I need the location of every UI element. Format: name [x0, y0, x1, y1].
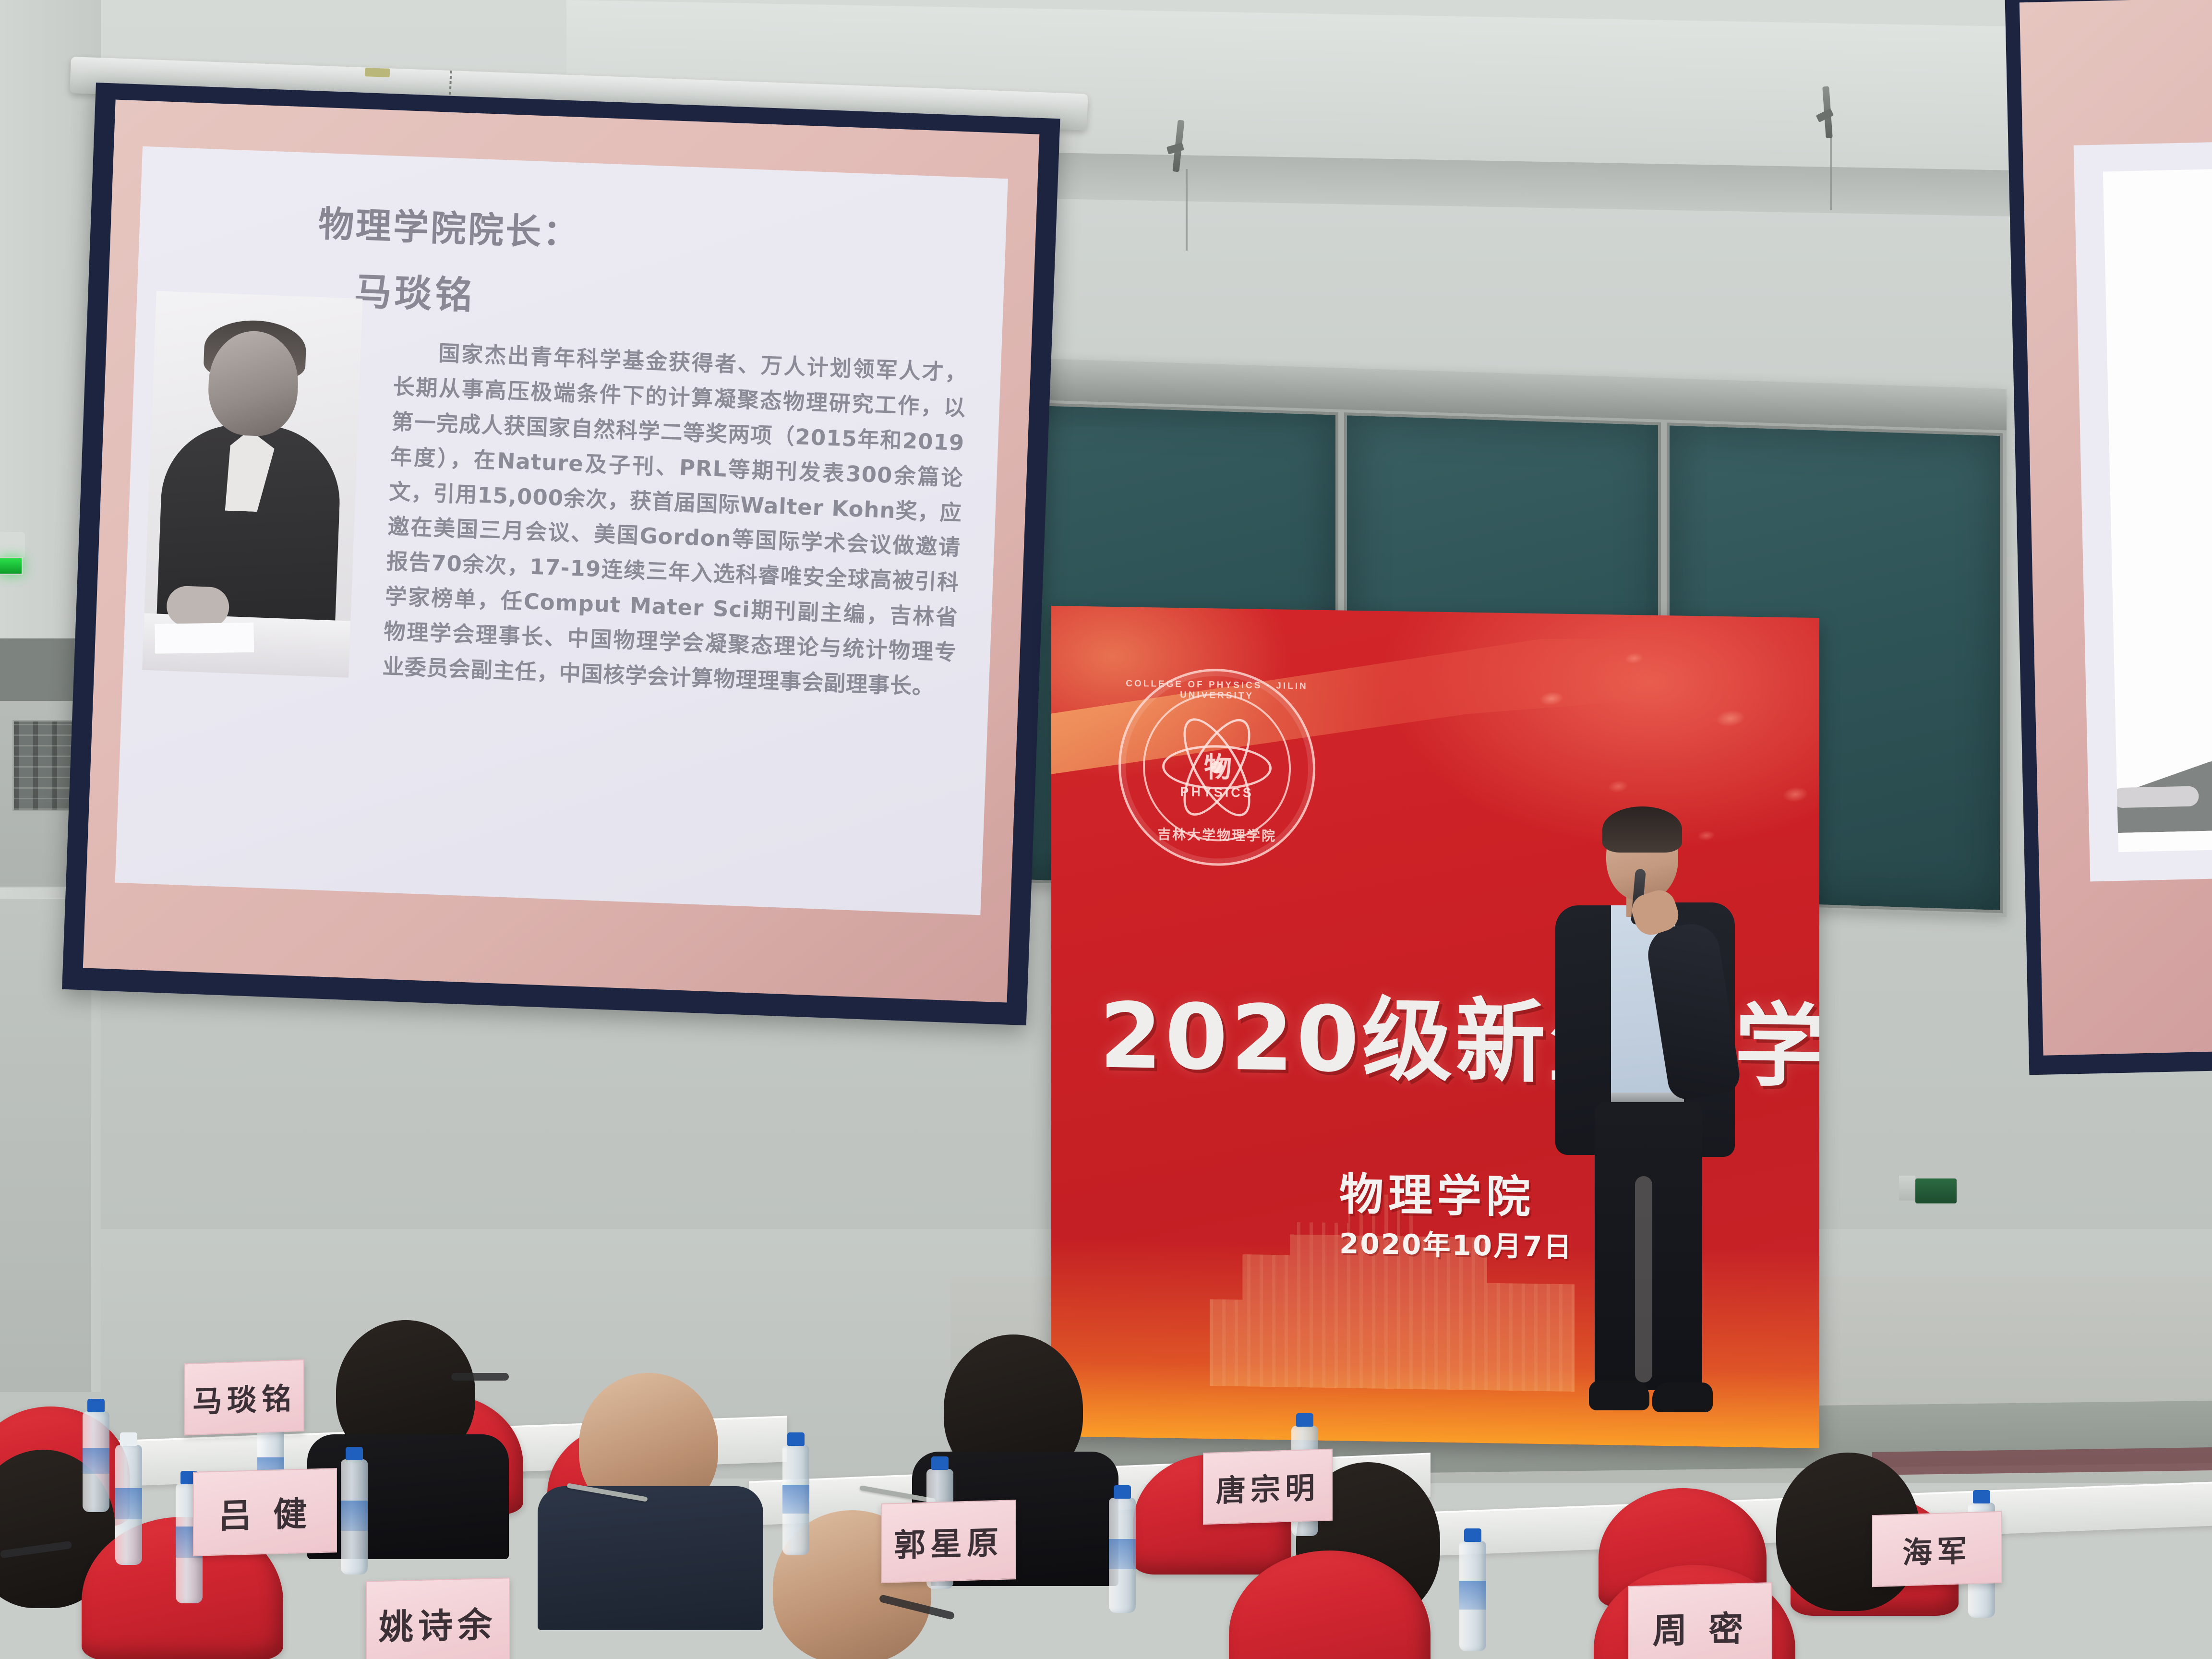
- name-placard: 姚诗余: [366, 1577, 510, 1659]
- projected-slide: 物理学院院长： 马琰铭 国家杰出青年科学基金获得者、万人计划领军人才，长期从事高…: [115, 146, 1008, 915]
- name-placard: 海军: [1872, 1511, 2002, 1587]
- name-placard: 周 密: [1628, 1582, 1772, 1659]
- name-placard: 唐宗明: [1203, 1449, 1333, 1525]
- roller-label-tag: [365, 68, 390, 77]
- screen-surface: 物理学院院长： 马琰铭 国家杰出青年科学基金获得者、万人计划领军人才，长期从事高…: [83, 100, 1040, 1003]
- water-bottle[interactable]: [782, 1445, 809, 1555]
- speaker-shoe-left: [1589, 1381, 1649, 1410]
- slide-biography-text: 国家杰出青年科学基金获得者、万人计划领军人才，长期从事高压极端条件下的计算凝聚态…: [382, 335, 968, 706]
- college-seal-icon: COLLEGE OF PHYSICS · JILIN UNIVERSITY 物 …: [1118, 667, 1315, 867]
- hanging-wire: [1186, 169, 1188, 251]
- banner-date: 2020年10月7日: [1339, 1221, 1573, 1265]
- water-bottle[interactable]: [1109, 1498, 1136, 1613]
- green-waste-bin: [1915, 1178, 1957, 1203]
- slide-person-name: 马琰铭: [353, 262, 964, 338]
- portrait-hand: [166, 585, 230, 628]
- secondary-slide-photo: [2103, 167, 2212, 852]
- main-projection-screen: 物理学院院长： 马琰铭 国家杰出青年科学基金获得者、万人计划领军人才，长期从事高…: [62, 83, 1060, 1025]
- secondary-slide: [2074, 140, 2212, 882]
- emergency-exit-light-icon: [0, 557, 23, 575]
- exit-light-housing: [0, 532, 25, 559]
- portrait-paper: [155, 623, 254, 654]
- speaker-hair: [1602, 806, 1682, 853]
- hanging-wire: [1830, 138, 1832, 210]
- secondary-screen-surface: [2020, 0, 2212, 1056]
- audience-shoulders: [307, 1434, 509, 1559]
- seal-chinese-text: 吉林大学物理学院: [1121, 823, 1313, 845]
- speaker-leg-gap: [1635, 1176, 1652, 1382]
- water-bottle[interactable]: [83, 1411, 109, 1512]
- seal-english-text: COLLEGE OF PHYSICS · JILIN UNIVERSITY: [1121, 678, 1313, 702]
- stage-skirt-trim: [1872, 1447, 2212, 1475]
- name-placard: 郭星原: [881, 1500, 1016, 1583]
- eyeglasses-icon: [451, 1373, 509, 1381]
- speaker-shoe-right: [1652, 1382, 1713, 1412]
- water-bottle[interactable]: [115, 1445, 142, 1565]
- audience-shoulders: [538, 1486, 763, 1630]
- seal-physics-label: PHYSICS: [1121, 783, 1313, 801]
- banner-subtitle: 物理学院: [1339, 1158, 1535, 1225]
- name-placard: 马琰铭: [184, 1359, 304, 1436]
- seal-atom-graphic: 物: [1162, 712, 1272, 823]
- secondary-projection-screen: [2005, 0, 2212, 1075]
- water-bottle[interactable]: [341, 1459, 368, 1575]
- slide-headline: 物理学院院长：: [318, 195, 967, 271]
- seal-center-glyph: 物: [1204, 745, 1230, 785]
- name-placard: 吕 健: [193, 1468, 337, 1556]
- water-bottle[interactable]: [1459, 1541, 1486, 1651]
- speaker-on-stage: [1539, 811, 1741, 1445]
- slide-portrait-photo: [142, 291, 362, 678]
- secondary-photo-highlight: [2112, 786, 2199, 808]
- lecture-hall-photo: 物理学院院长： 马琰铭 国家杰出青年科学基金获得者、万人计划领军人才，长期从事高…: [0, 0, 2212, 1659]
